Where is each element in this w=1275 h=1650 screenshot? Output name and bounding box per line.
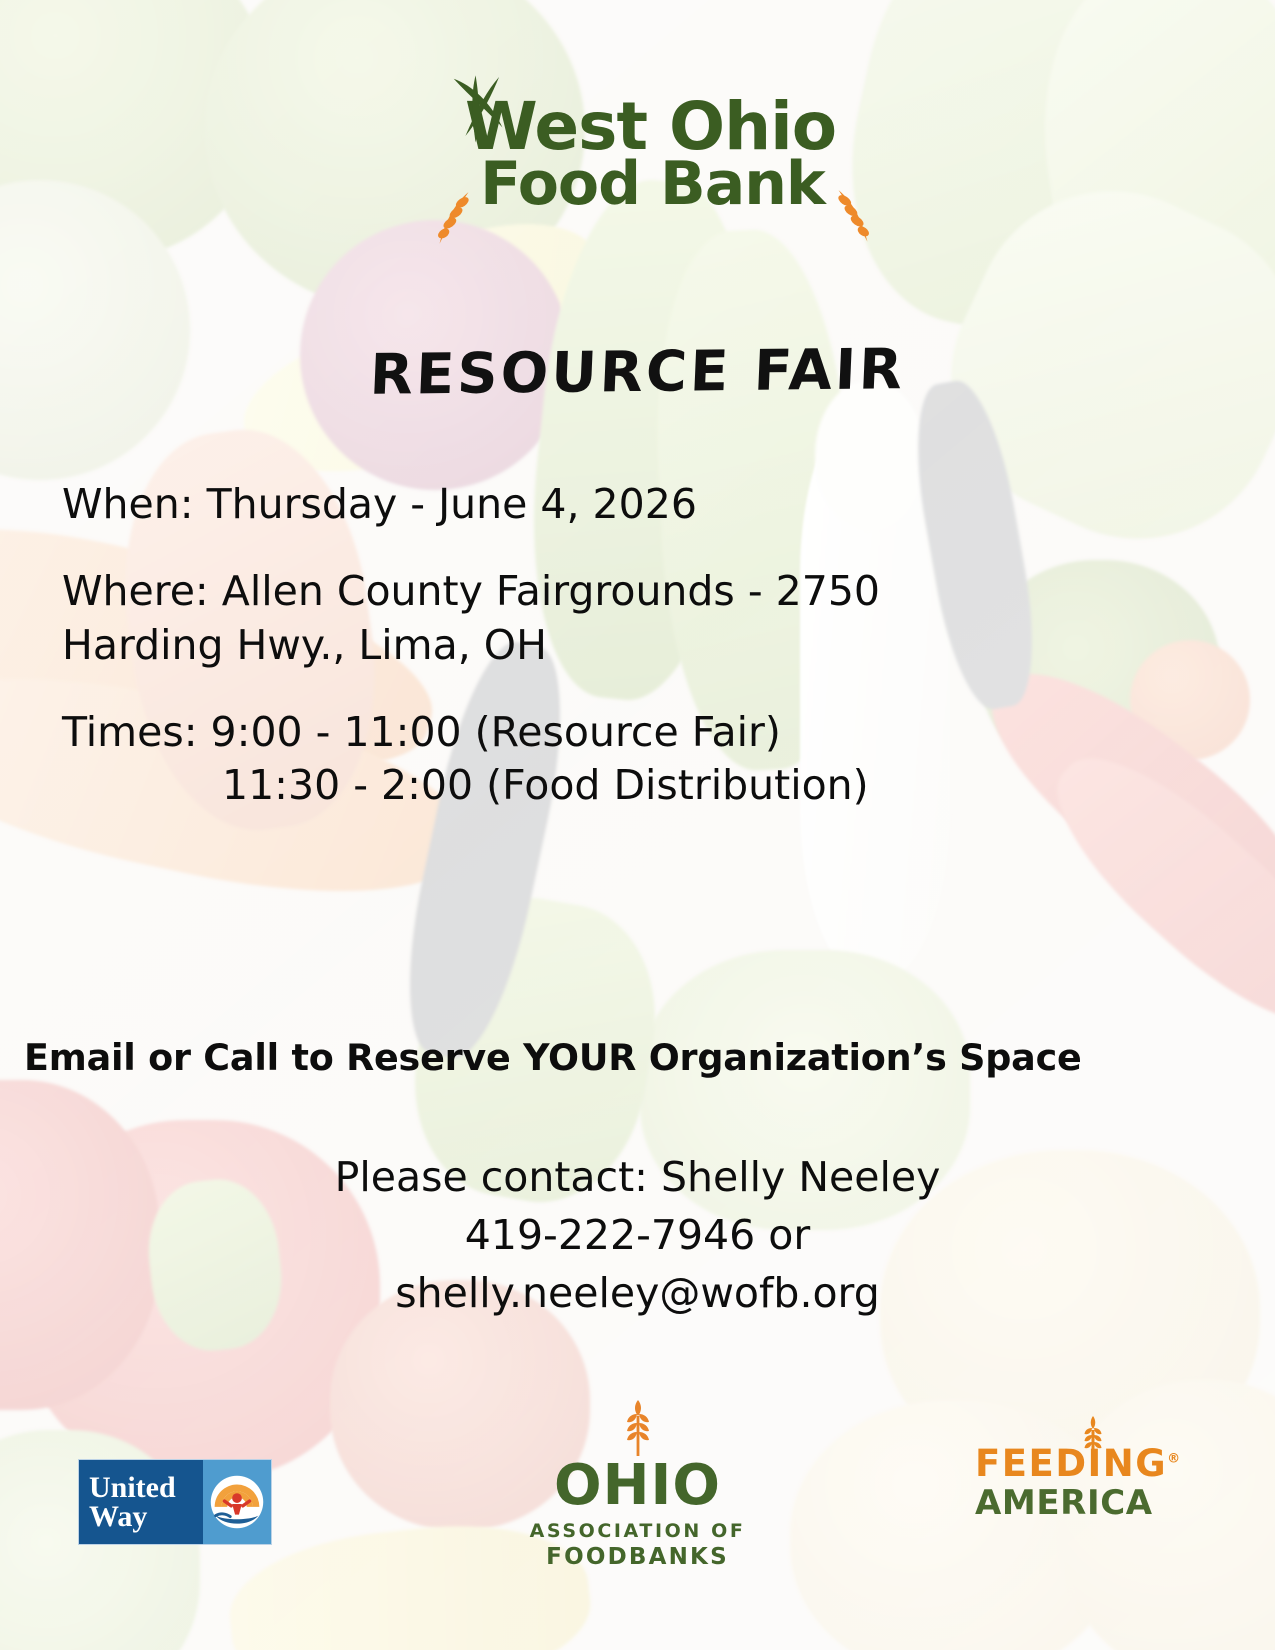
feeding-america-line-2: AMERICA [975, 1486, 1165, 1520]
call-to-action-text: Email or Call to Reserve YOUR Organizati… [24, 1036, 1252, 1079]
page-title: RESOURCE FAIR [0, 333, 1275, 411]
feeding-america-line-1-wrap: FEEDING® [975, 1445, 1165, 1482]
flyer-poster: West Ohio Food Bank RESOURCE FAIR When: … [0, 0, 1275, 1650]
detail-times-line1: Times: 9:00 - 11:00 (Resource Fair) [62, 706, 1162, 759]
logo-line-2: Food Bank [439, 157, 836, 213]
wheat-icon-left [431, 188, 477, 250]
detail-times-line2: 11:30 - 2:00 (Food Distribution) [62, 759, 1162, 812]
feeding-america-logo: FEEDING® AMERICA [975, 1445, 1165, 1520]
feeding-america-line-1: FEEDING [975, 1442, 1167, 1485]
event-details: When: Thursday - June 4, 2026 Where: All… [62, 478, 1162, 812]
contact-name: Please contact: Shelly Neeley [0, 1148, 1275, 1206]
wheat-icon-feeding-america [1081, 1416, 1105, 1460]
registered-trademark-icon: ® [1167, 1452, 1182, 1467]
wheat-icon-ohio [621, 1400, 655, 1456]
logo-line-1: West Ohio [439, 96, 836, 157]
ohio-subtitle-2: FOODBANKS [0, 1544, 1275, 1570]
ohio-subtitle-1: ASSOCIATION OF [0, 1520, 1275, 1542]
contact-email[interactable]: shelly.neeley@wofb.org [0, 1264, 1275, 1322]
contact-info: Please contact: Shelly Neeley 419-222-79… [0, 1148, 1275, 1323]
detail-where-line1: Where: Allen County Fairgrounds - 2750 [62, 565, 1162, 618]
west-ohio-food-bank-logo: West Ohio Food Bank [0, 96, 1275, 213]
detail-where-line2: Harding Hwy., Lima, OH [62, 619, 1162, 672]
detail-when: When: Thursday - June 4, 2026 [62, 478, 1162, 531]
wheat-icon-right [830, 186, 876, 248]
contact-phone[interactable]: 419-222-7946 or [0, 1206, 1275, 1264]
